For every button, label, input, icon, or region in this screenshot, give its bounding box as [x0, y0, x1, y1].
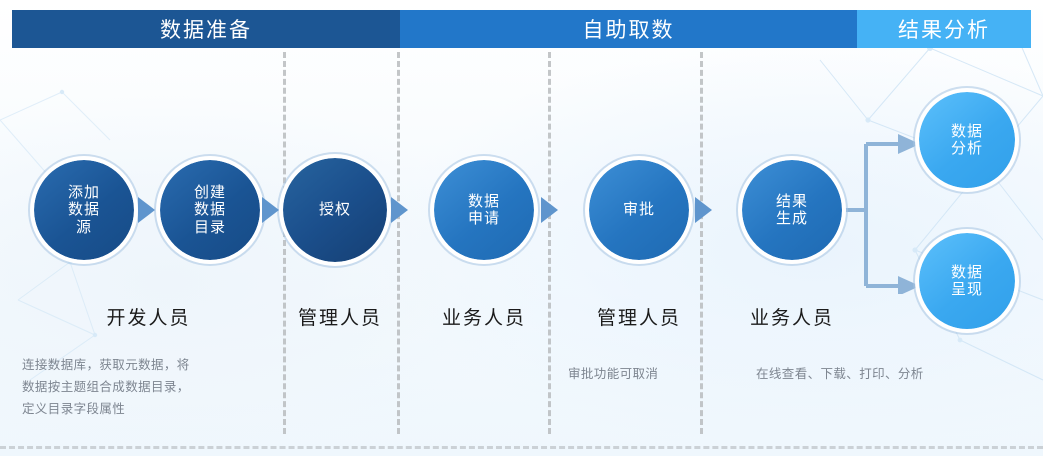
node-data-present[interactable]: 数据 呈现 [919, 233, 1015, 329]
lane-separator-1 [283, 52, 286, 434]
description-approval: 审批功能可取消 [568, 364, 698, 386]
phase-band-label: 自助取数 [583, 14, 675, 44]
description-data-preparation: 连接数据库，获取元数据，将 数据按主题组合成数据目录， 定义目录字段属性 [22, 355, 274, 421]
role-label-admin-2: 管理人员 [587, 303, 691, 330]
flow-arrow-2 [262, 197, 279, 223]
role-label-admin-1: 管理人员 [288, 303, 392, 330]
description-result: 在线查看、下载、打印、分析 [756, 364, 1016, 386]
node-label: 数据 申请 [468, 193, 500, 228]
node-create-catalog[interactable]: 创建 数据 目录 [160, 160, 260, 260]
lane-separator-4 [700, 52, 703, 434]
flow-arrow-4 [541, 197, 558, 223]
node-data-analysis[interactable]: 数据 分析 [919, 92, 1015, 188]
bottom-dashed-rule [0, 446, 1043, 449]
flow-arrow-1 [138, 197, 155, 223]
phase-band-label: 结果分析 [898, 14, 990, 44]
node-label: 创建 数据 目录 [194, 184, 226, 236]
flow-diagram-canvas: 数据准备 自助取数 结果分析 添加 数据 源 创建 数据 目录 授权 数据 申请 [0, 0, 1043, 456]
phase-band-data-preparation: 数据准备 [12, 10, 400, 48]
flow-arrow-5 [695, 197, 712, 223]
node-label: 授权 [319, 201, 351, 218]
lane-separator-2 [397, 52, 400, 434]
node-label: 审批 [623, 201, 655, 218]
phase-band-self-service: 自助取数 [400, 10, 857, 48]
role-label-business-1: 业务人员 [432, 303, 536, 330]
role-label-developer: 开发人员 [46, 303, 251, 330]
phase-band-result-analysis: 结果分析 [857, 10, 1031, 48]
node-data-request[interactable]: 数据 申请 [434, 160, 534, 260]
role-label-business-2: 业务人员 [740, 303, 844, 330]
node-label: 添加 数据 源 [68, 184, 100, 236]
lane-separator-3 [548, 52, 551, 434]
flow-arrow-3 [391, 197, 408, 223]
node-label: 数据 呈现 [951, 264, 983, 299]
node-label: 数据 分析 [951, 123, 983, 158]
node-approval[interactable]: 审批 [589, 160, 689, 260]
node-result-generate[interactable]: 结果 生成 [742, 160, 842, 260]
node-add-datasource[interactable]: 添加 数据 源 [34, 160, 134, 260]
node-authorize[interactable]: 授权 [283, 158, 387, 262]
phase-band-label: 数据准备 [160, 14, 252, 44]
node-label: 结果 生成 [776, 193, 808, 228]
